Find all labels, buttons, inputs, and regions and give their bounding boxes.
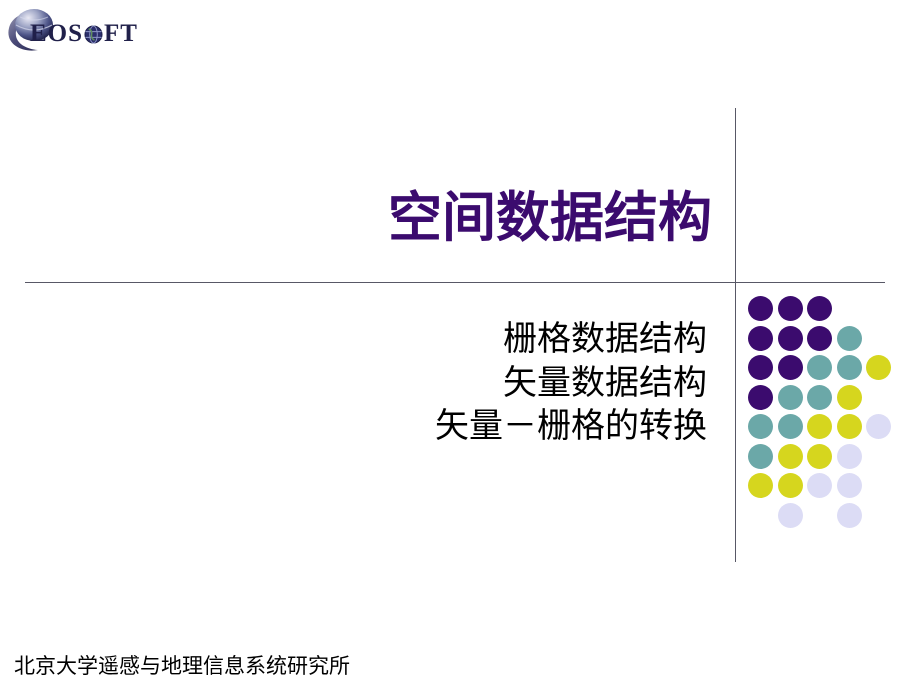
decorative-dot <box>807 444 832 469</box>
subtitle-list: 栅格数据结构 矢量数据结构 矢量－栅格的转换 <box>200 318 707 449</box>
decorative-dot <box>778 473 803 498</box>
footer-affiliation: 北京大学遥感与地理信息系统研究所 <box>14 650 350 680</box>
decorative-dot <box>837 326 862 351</box>
decorative-dot <box>748 414 773 439</box>
decorative-dot <box>778 414 803 439</box>
vertical-rule <box>735 108 736 562</box>
decorative-dot <box>837 355 862 380</box>
subtitle-line-3: 矢量－栅格的转换 <box>200 405 707 449</box>
decorative-dot <box>778 444 803 469</box>
decorative-dot <box>837 414 862 439</box>
decorative-dot <box>866 414 891 439</box>
decorative-dot <box>807 296 832 321</box>
decorative-dot <box>778 355 803 380</box>
decorative-dot <box>866 355 891 380</box>
decorative-dot <box>778 296 803 321</box>
decorative-dot <box>837 503 862 528</box>
logo-wordmark-after: FT <box>104 21 138 46</box>
decorative-dot <box>778 503 803 528</box>
decorative-dot <box>748 444 773 469</box>
decorative-dot <box>807 385 832 410</box>
subtitle-line-1: 栅格数据结构 <box>200 318 707 362</box>
decorative-dot-grid <box>748 296 913 528</box>
logo-wordmark-before: EOS <box>30 21 83 46</box>
decorative-dot <box>837 444 862 469</box>
subtitle-line-2: 矢量数据结构 <box>200 362 707 406</box>
decorative-dot <box>748 385 773 410</box>
page-title: 空间数据结构 <box>120 190 712 247</box>
decorative-dot <box>748 326 773 351</box>
decorative-dot <box>778 326 803 351</box>
decorative-dot <box>748 296 773 321</box>
decorative-dot <box>807 326 832 351</box>
decorative-dot <box>748 473 773 498</box>
globe-icon <box>84 25 103 44</box>
decorative-dot <box>807 355 832 380</box>
logo-wordmark: EOSFT <box>30 21 138 46</box>
horizontal-rule <box>25 282 885 283</box>
slide-canvas: EOSFT 空间数据结构 栅格数据结构 矢量数据结构 矢量－栅格的转换 北京大学… <box>0 0 920 690</box>
decorative-dot <box>748 355 773 380</box>
decorative-dot <box>807 473 832 498</box>
decorative-dot <box>837 473 862 498</box>
decorative-dot <box>807 414 832 439</box>
decorative-dot <box>837 385 862 410</box>
geosoft-logo: EOSFT <box>4 6 174 54</box>
decorative-dot <box>778 385 803 410</box>
